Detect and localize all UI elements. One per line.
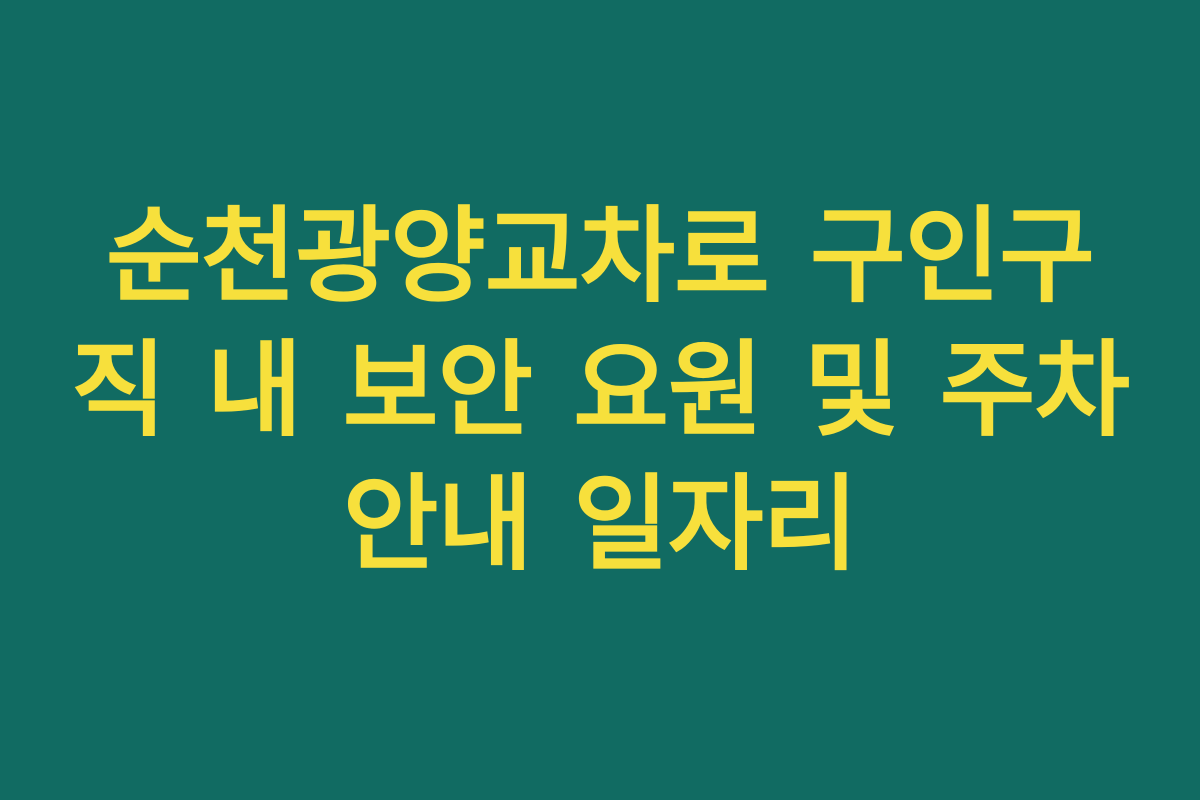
- page-title: 순천광양교차로 구인구 직 내 보안 요원 및 주차 안내 일자리: [70, 189, 1130, 591]
- banner-card: 순천광양교차로 구인구 직 내 보안 요원 및 주차 안내 일자리: [0, 0, 1200, 800]
